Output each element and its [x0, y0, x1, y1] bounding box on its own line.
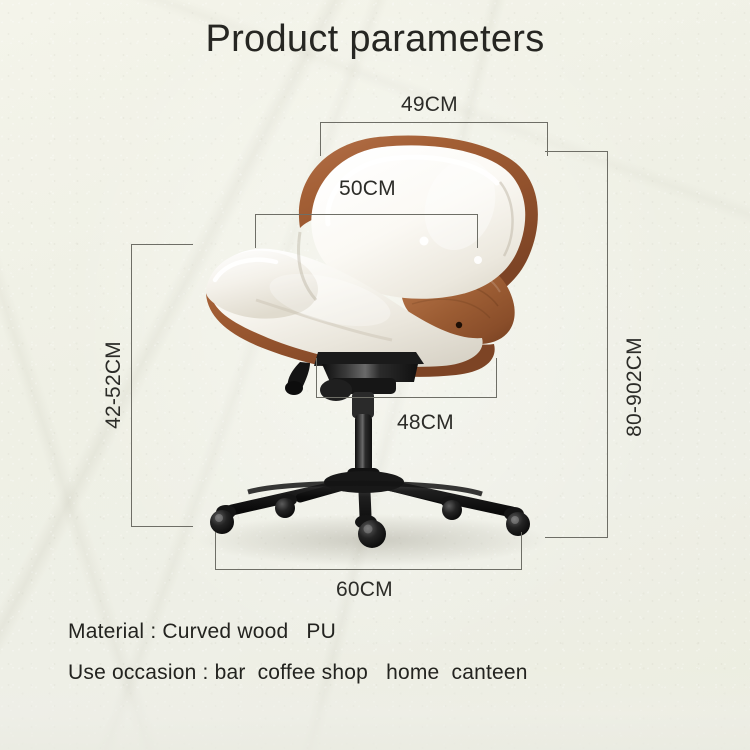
- dimension-label-width-top: 49CM: [401, 93, 458, 117]
- dimension-bracket-seat-width: [316, 358, 497, 398]
- dimension-label-seat-width: 48CM: [397, 411, 454, 435]
- dimension-label-base-width: 60CM: [336, 578, 393, 602]
- dimension-label-seat-height: 42-52CM: [102, 330, 126, 440]
- dimension-bracket-total-height: [545, 151, 608, 538]
- dimension-bracket-width-top: [320, 122, 548, 156]
- product-parameters-image: Product parameters: [0, 0, 750, 750]
- spec-use-occasion: Use occasion : bar coffee shop home cant…: [68, 661, 528, 685]
- dimension-bracket-seat-depth: [255, 214, 478, 248]
- spec-material: Material : Curved wood PU: [68, 620, 336, 644]
- dimension-label-total-height: 80-902CM: [623, 322, 647, 452]
- dimension-label-seat-depth: 50CM: [339, 177, 396, 201]
- dimension-bracket-seat-height: [131, 244, 193, 527]
- dimension-bracket-base-width: [215, 532, 522, 570]
